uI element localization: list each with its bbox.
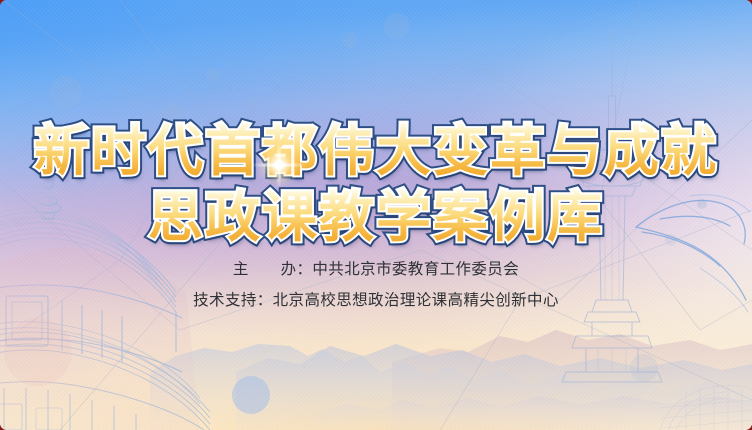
credit-organizer: 主 办：中共北京市委教育工作委员会: [0, 262, 752, 278]
poster-credits: 主 办：中共北京市委教育工作委员会 技术支持：北京高校思想政治理论课高精尖创新中…: [0, 262, 752, 308]
title-line-2-fill: 思政课教学案例库: [0, 190, 752, 245]
credit-organizer-label: 主 办：: [233, 262, 313, 278]
title-line-2: 思政课教学案例库 思政课教学案例库 思政课教学案例库: [0, 190, 752, 245]
poster-title: 新时代首都伟大变革与成就 新时代首都伟大变革与成就 新时代首都伟大变革与成就 思…: [0, 124, 752, 245]
credit-tech-support: 技术支持：北京高校思想政治理论课高精尖创新中心: [0, 293, 752, 309]
credit-tech-support-label: 技术支持：: [193, 293, 273, 309]
banner-poster: 新时代首都伟大变革与成就 新时代首都伟大变革与成就 新时代首都伟大变革与成就 思…: [0, 0, 752, 430]
credit-organizer-value: 中共北京市委教育工作委员会: [312, 262, 519, 278]
title-line-1-fill: 新时代首都伟大变革与成就: [0, 124, 752, 179]
accent-dot: [232, 376, 270, 414]
credit-tech-support-value: 北京高校思想政治理论课高精尖创新中心: [273, 293, 559, 309]
title-line-1: 新时代首都伟大变革与成就 新时代首都伟大变革与成就 新时代首都伟大变革与成就: [0, 124, 752, 179]
